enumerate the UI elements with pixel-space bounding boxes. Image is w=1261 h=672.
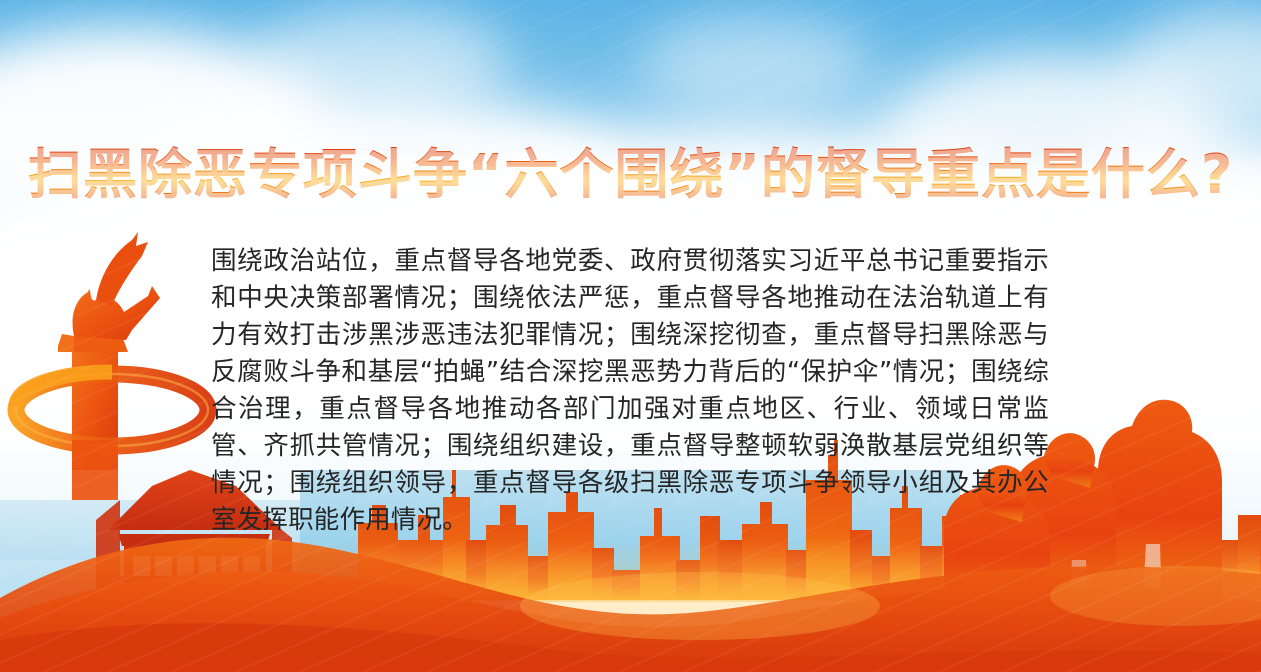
cloud-shape [250, 6, 510, 116]
title-container: 扫黑除恶专项斗争“六个围绕”的督导重点是什么? [0, 143, 1261, 207]
poster-canvas: 扫黑除恶专项斗争“六个围绕”的督导重点是什么? 围绕政治站位，重点督导各地党委、… [0, 0, 1261, 672]
cloud-shape [640, 14, 870, 110]
body-paragraph: 围绕政治站位，重点督导各地党委、政府贯彻落实习近平总书记重要指示和中央决策部署情… [211, 243, 1049, 539]
page-title: 扫黑除恶专项斗争“六个围绕”的督导重点是什么? [28, 143, 1233, 207]
